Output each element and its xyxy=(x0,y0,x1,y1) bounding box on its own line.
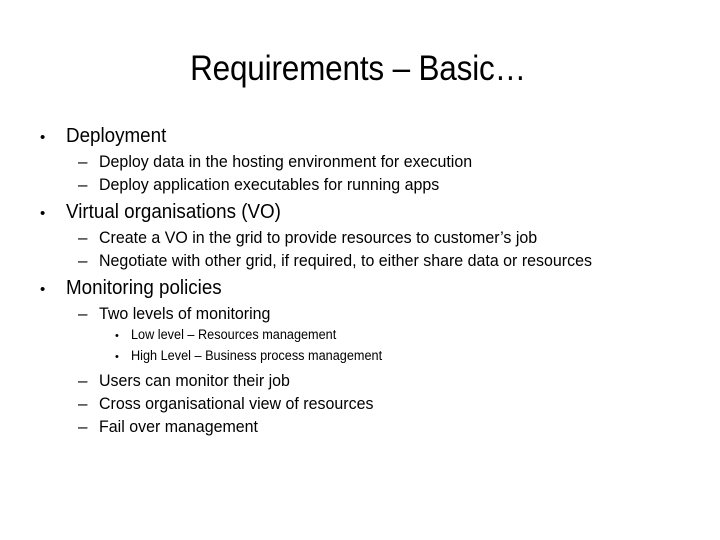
bullet-section: •Virtual organisations (VO)–Create a VO … xyxy=(0,200,720,272)
bullet-level2-label: Create a VO in the grid to provide resou… xyxy=(99,226,537,249)
bullet-level2: –Create a VO in the grid to provide reso… xyxy=(78,226,720,249)
bullet-section: •Monitoring policies–Two levels of monit… xyxy=(0,276,720,438)
bullet-level2: –Two levels of monitoring xyxy=(78,302,720,325)
bullet-level2: –Cross organisational view of resources xyxy=(78,392,720,415)
slide: Requirements – Basic… •Deployment–Deploy… xyxy=(0,0,720,540)
bullet-dash-icon: – xyxy=(78,369,99,392)
bullet-level2-label: Fail over management xyxy=(99,415,258,438)
bullet-level2: –Deploy application executables for runn… xyxy=(78,173,720,196)
bullet-level1-label: Virtual organisations (VO) xyxy=(66,200,281,225)
bullet-dash-icon: – xyxy=(78,302,99,325)
bullet-level1: •Virtual organisations (VO) xyxy=(40,200,720,226)
bullet-level2-label: Cross organisational view of resources xyxy=(99,392,373,415)
bullet-dash-icon: – xyxy=(78,249,99,272)
bullet-dot-icon: • xyxy=(40,125,66,150)
bullet-level1: •Monitoring policies xyxy=(40,276,720,302)
bullet-level2: –Negotiate with other grid, if required,… xyxy=(78,249,720,272)
bullet-section: •Deployment–Deploy data in the hosting e… xyxy=(0,124,720,196)
bullet-level1: •Deployment xyxy=(40,124,720,150)
bullet-dot-icon: • xyxy=(115,326,131,346)
slide-body: •Deployment–Deploy data in the hosting e… xyxy=(0,124,720,438)
bullet-level2: –Users can monitor their job xyxy=(78,369,720,392)
bullet-dot-icon: • xyxy=(115,347,131,367)
bullet-level2-label: Deploy data in the hosting environment f… xyxy=(99,150,472,173)
bullet-dash-icon: – xyxy=(78,173,99,196)
bullet-level2-label: Users can monitor their job xyxy=(99,369,290,392)
bullet-level2-label: Deploy application executables for runni… xyxy=(99,173,439,196)
bullet-dash-icon: – xyxy=(78,392,99,415)
page-title: Requirements – Basic… xyxy=(36,48,680,90)
bullet-dash-icon: – xyxy=(78,150,99,173)
bullet-level3-label: High Level – Business process management xyxy=(131,346,382,366)
bullet-level3: •Low level – Resources management xyxy=(115,325,720,346)
bullet-dot-icon: • xyxy=(40,277,66,302)
bullet-level3-label: Low level – Resources management xyxy=(131,325,336,345)
bullet-dot-icon: • xyxy=(40,201,66,226)
bullet-level3: •High Level – Business process managemen… xyxy=(115,346,720,367)
bullet-level2-label: Two levels of monitoring xyxy=(99,302,270,325)
bullet-level1-label: Deployment xyxy=(66,124,166,149)
bullet-dash-icon: – xyxy=(78,226,99,249)
bullet-level1-label: Monitoring policies xyxy=(66,276,222,301)
bullet-level2: –Fail over management xyxy=(78,415,720,438)
bullet-level2-label: Negotiate with other grid, if required, … xyxy=(99,249,592,272)
bullet-level2: –Deploy data in the hosting environment … xyxy=(78,150,720,173)
bullet-dash-icon: – xyxy=(78,415,99,438)
